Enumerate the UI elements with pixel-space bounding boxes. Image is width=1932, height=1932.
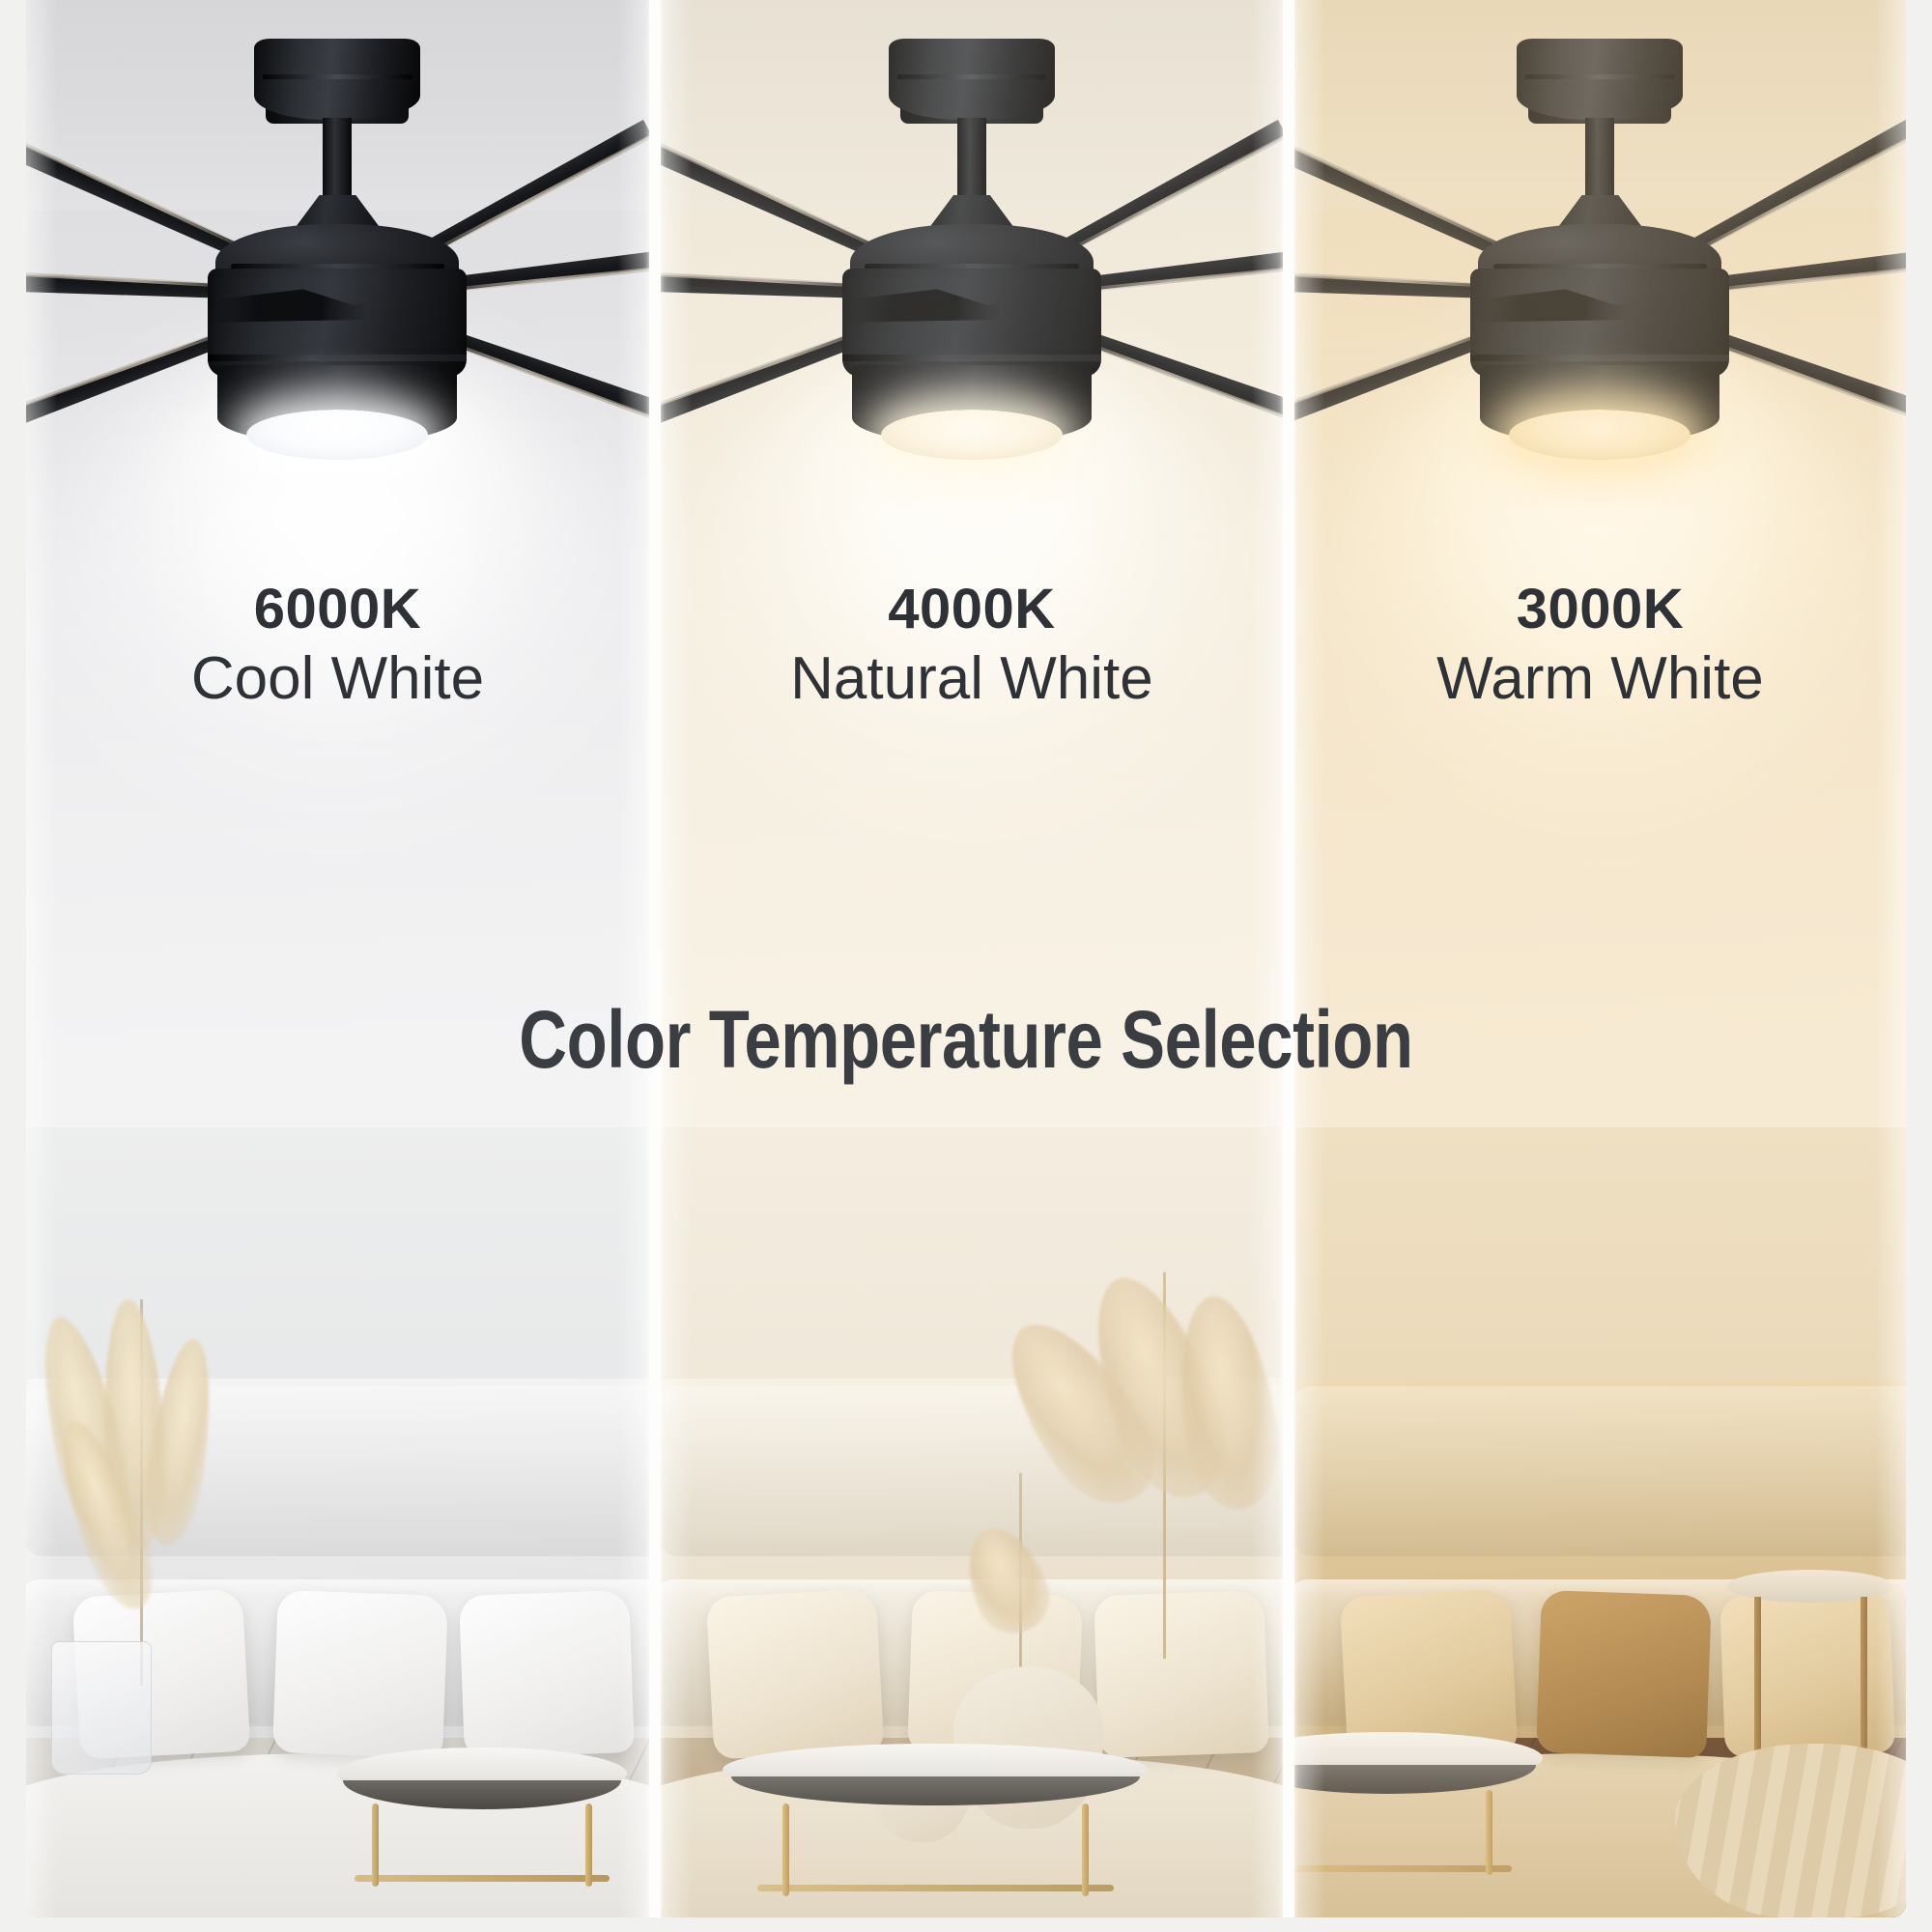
panel-4000k: 4000K Natural White [661,0,1283,1918]
panel-divider [649,0,661,1918]
temperature-label-group: 6000K Cool White [26,580,649,716]
ceiling-fan-icon [28,25,646,431]
throw-pillow [460,1590,636,1758]
fan-canopy [1517,39,1683,120]
kelvin-value: 3000K [1294,580,1906,639]
room-scene [26,1127,649,1918]
page-title: Color Temperature Selection [174,993,1758,1087]
fan-light-housing [217,365,457,444]
room-scene [1294,1127,1906,1918]
throw-pillow [272,1590,448,1758]
fan-motor-drum [842,269,1101,377]
temperature-name: Natural White [661,642,1283,716]
kelvin-value: 6000K [26,580,649,639]
glass-vase [51,1641,152,1775]
fan-canopy [254,39,420,120]
fan-canopy [889,39,1055,120]
temperature-label-group: 4000K Natural White [661,580,1283,716]
led-diffuser [1509,410,1690,460]
product-infographic: 6000K Cool White [0,0,1932,1932]
dried-protea [947,1473,1092,1676]
coffee-table [337,1747,627,1912]
pampas-grass [39,1299,241,1686]
fan-light-housing [1480,365,1719,444]
ceiling-fan-icon [663,25,1281,431]
side-table [1727,1570,1893,1773]
fan-motor-drum [1470,269,1729,377]
panel-6000k: 6000K Cool White [26,0,649,1918]
led-diffuser [881,410,1063,460]
room-scene [661,1127,1283,1918]
led-diffuser [246,410,428,460]
panel-row: 6000K Cool White [26,0,1906,1918]
throw-pillow-accent [1536,1590,1712,1758]
coffee-table [1294,1732,1543,1896]
fan-motor-drum [208,269,467,377]
kelvin-value: 4000K [661,580,1283,639]
temperature-name: Warm White [1294,642,1906,716]
temperature-label-group: 3000K Warm White [1294,580,1906,716]
panel-divider [1283,0,1294,1918]
ceiling-fan-icon [1294,25,1906,431]
panel-3000k: 3000K Warm White [1294,0,1906,1918]
fan-light-housing [852,365,1092,444]
coffee-table [723,1744,1148,1918]
throw-pillow [706,1589,885,1760]
temperature-name: Cool White [26,642,649,716]
